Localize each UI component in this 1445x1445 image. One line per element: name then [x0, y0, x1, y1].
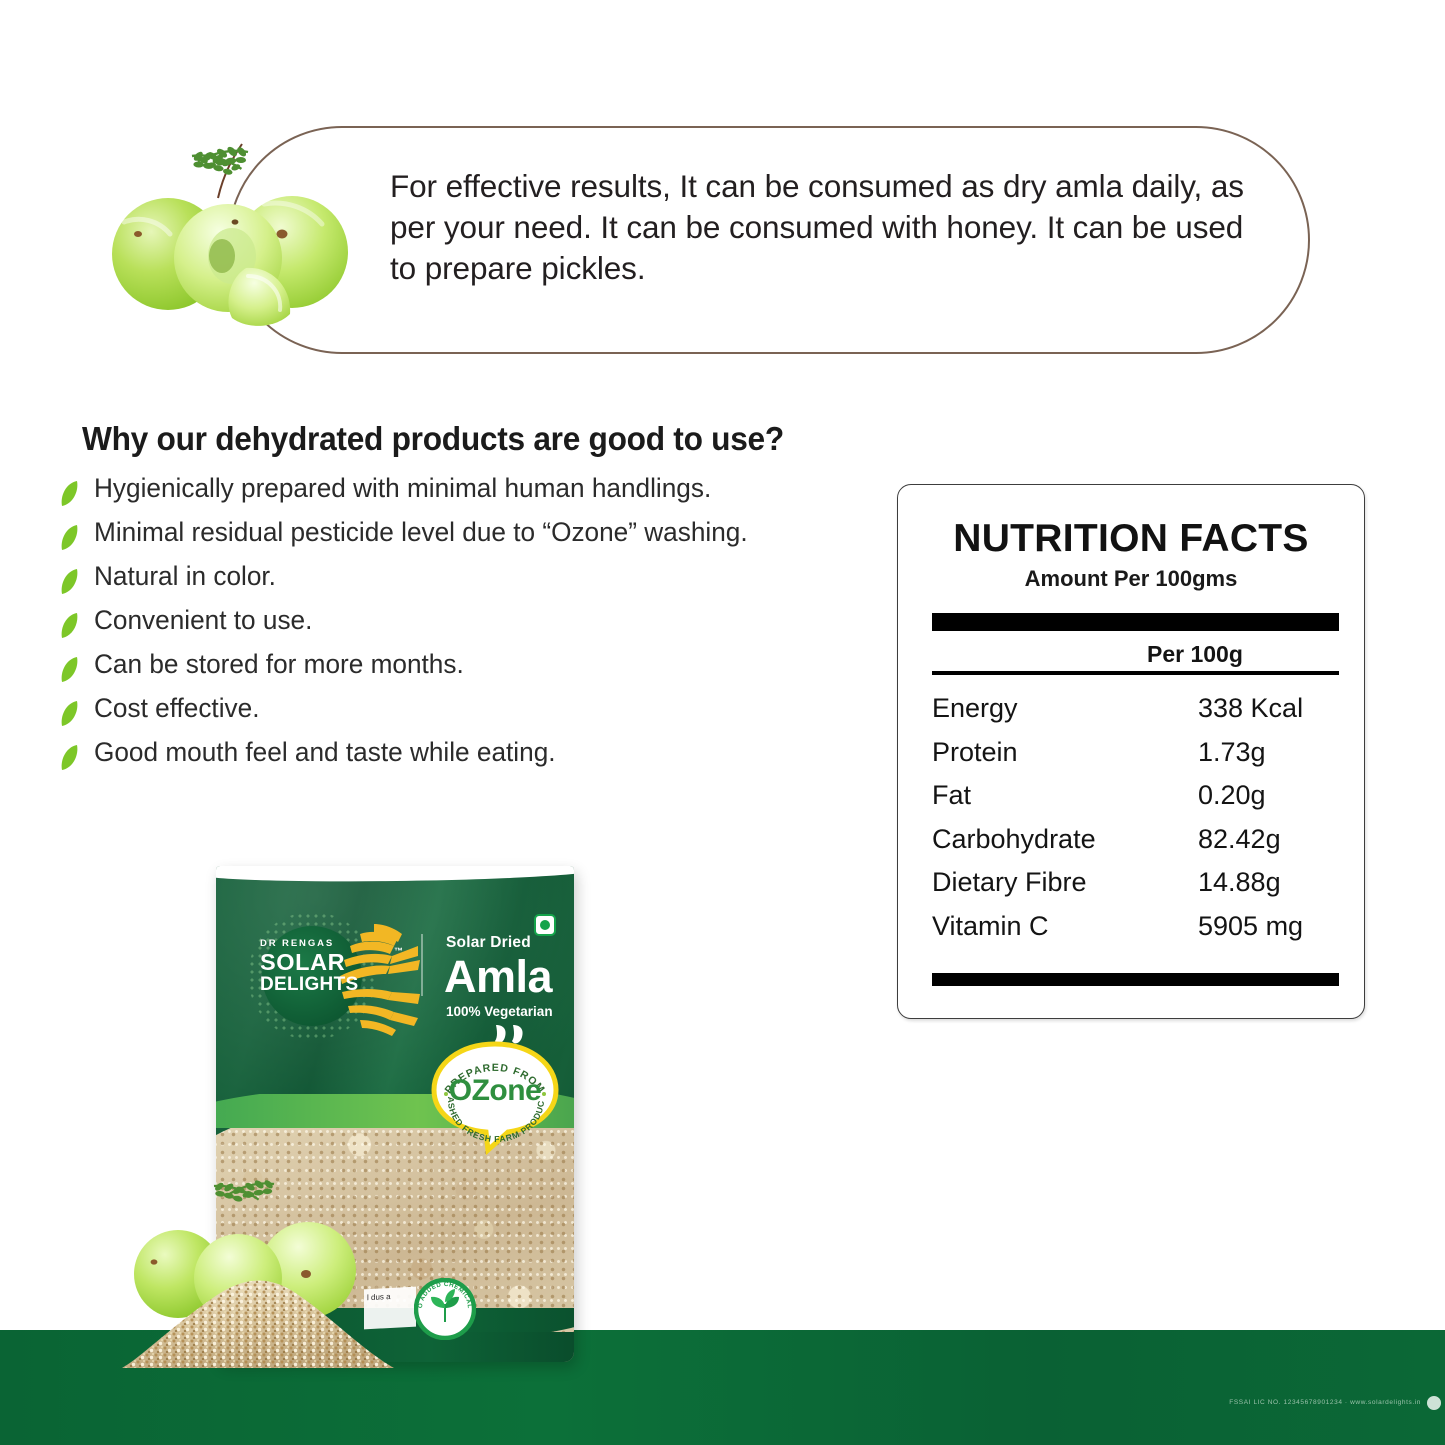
bottom-band-microtext: FSSAI LIC NO. 12345678901234 · www.solar…	[1229, 1399, 1421, 1406]
list-item: Natural in color.	[58, 560, 888, 604]
amla-fruit-top-image	[96, 142, 364, 334]
list-item: Good mouth feel and taste while eating.	[58, 736, 888, 780]
nutrient-name: Fat	[932, 780, 1132, 811]
nutrient-value: 1.73g	[1132, 737, 1339, 768]
leaf-icon	[58, 610, 80, 640]
trademark-symbol: ™	[394, 946, 403, 956]
nutrient-value: 5905 mg	[1132, 911, 1339, 942]
nutrient-value: 338 Kcal	[1132, 693, 1339, 724]
list-item-label: Minimal residual pesticide level due to …	[94, 516, 748, 548]
package-product-prefix: Solar Dried	[446, 934, 531, 952]
package-brand-lockup: DR RENGAS SOLAR DELIGHTS	[260, 938, 394, 996]
list-item: Cost effective.	[58, 692, 888, 736]
table-row: Fat 0.20g	[932, 780, 1339, 824]
dried-amla-granules-image	[118, 1262, 398, 1370]
nutrition-facts-panel: NUTRITION FACTS Amount Per 100gms Per 10…	[897, 484, 1365, 1019]
leaf-icon	[58, 478, 80, 508]
package-product-name: Amla	[444, 952, 552, 1002]
leaf-icon	[58, 654, 80, 684]
green-veg-mark-icon	[534, 914, 556, 936]
nutrient-name: Protein	[932, 737, 1132, 768]
no-added-chemicals-badge: NO ADDED CHEMICALS	[414, 1278, 476, 1340]
nutrition-header-rule	[932, 671, 1339, 675]
table-row: Vitamin C 5905 mg	[932, 911, 1339, 955]
list-item: Convenient to use.	[58, 604, 888, 648]
nutrient-value: 82.42g	[1132, 824, 1339, 855]
list-item-label: Good mouth feel and taste while eating.	[94, 736, 556, 768]
leaf-icon	[58, 698, 80, 728]
benefits-list: Hygienically prepared with minimal human…	[58, 472, 888, 780]
nutrition-facts-title: NUTRITION FACTS	[898, 517, 1364, 561]
leaf-icon	[58, 742, 80, 772]
list-item: Minimal residual pesticide level due to …	[58, 516, 888, 560]
package-brand-line1: SOLAR	[260, 950, 394, 974]
list-item-label: Natural in color.	[94, 560, 276, 592]
table-row: Energy 338 Kcal	[932, 693, 1339, 737]
table-row: Dietary Fibre 14.88g	[932, 867, 1339, 911]
bottom-band-dot	[1427, 1396, 1441, 1410]
nutrient-name: Carbohydrate	[932, 824, 1132, 855]
nutrition-column-header: Per 100g	[1139, 641, 1339, 668]
nutrition-bottom-rule	[932, 973, 1339, 986]
package-top-seal	[216, 866, 574, 883]
ozone-badge: PREPARED FROM OZone WASHED FRESH FARM PR…	[426, 1038, 564, 1156]
list-item: Hygienically prepared with minimal human…	[58, 472, 888, 516]
nutrition-top-rule	[932, 613, 1339, 631]
nutrition-facts-subtitle: Amount Per 100gms	[898, 566, 1364, 592]
leaf-icon	[58, 522, 80, 552]
list-item-label: Hygienically prepared with minimal human…	[94, 472, 711, 504]
package-divider	[421, 934, 423, 996]
benefits-heading: Why our dehydrated products are good to …	[82, 420, 784, 458]
svg-text:OZone: OZone	[449, 1074, 542, 1107]
nutrient-name: Vitamin C	[932, 911, 1132, 942]
package-brand-prefix: DR RENGAS	[260, 938, 394, 949]
table-row: Carbohydrate 82.42g	[932, 824, 1339, 868]
leaf-icon	[58, 566, 80, 596]
list-item-label: Cost effective.	[94, 692, 259, 724]
package-brand-line2: DELIGHTS	[260, 974, 394, 996]
list-item-label: Can be stored for more months.	[94, 648, 464, 680]
nutrient-value: 14.88g	[1132, 867, 1339, 898]
usage-callout-text: For effective results, It can be consume…	[390, 166, 1270, 289]
table-row: Protein 1.73g	[932, 737, 1339, 781]
list-item: Can be stored for more months.	[58, 648, 888, 692]
package-vegetarian-text: 100% Vegetarian	[446, 1004, 553, 1019]
nutrient-value: 0.20g	[1132, 780, 1339, 811]
nutrition-rows: Energy 338 Kcal Protein 1.73g Fat 0.20g …	[932, 693, 1339, 954]
nutrient-name: Dietary Fibre	[932, 867, 1132, 898]
list-item-label: Convenient to use.	[94, 604, 312, 636]
nutrient-name: Energy	[932, 693, 1132, 724]
